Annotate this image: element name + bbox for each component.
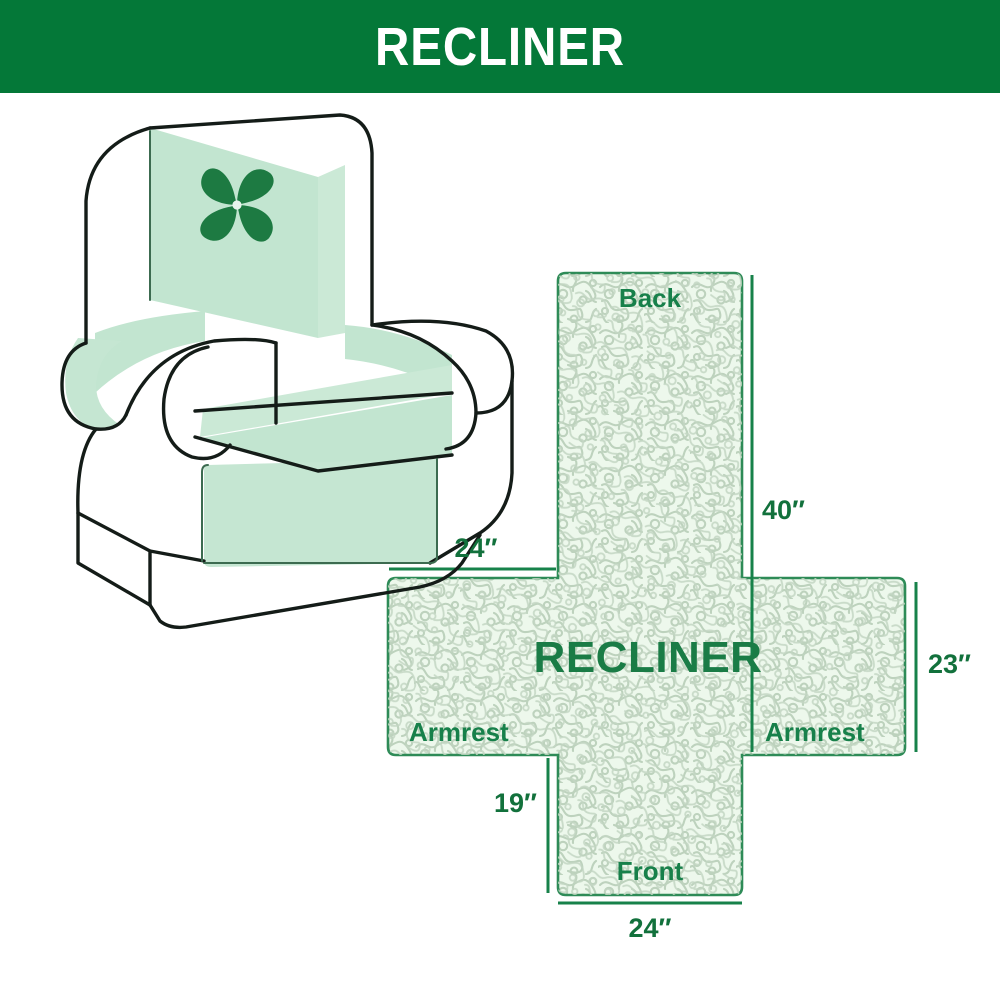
- chair-illustration: [0, 93, 1000, 1000]
- page-title: RECLINER: [375, 20, 625, 74]
- diagram-canvas: Back RECLINER Armrest Armrest Front 40″ …: [0, 93, 1000, 1000]
- dimension-label-23: 23″: [928, 649, 971, 680]
- panel-label-back: Back: [619, 283, 681, 314]
- cover-center-label: RECLINER: [534, 633, 763, 683]
- dimension-label-19: 19″: [494, 788, 537, 819]
- dimension-label-24-bottom: 24″: [629, 913, 672, 944]
- panel-label-front: Front: [617, 856, 683, 887]
- panel-label-armrest-left: Armrest: [409, 717, 509, 748]
- header-banner: RECLINER: [0, 0, 1000, 93]
- panel-label-armrest-right: Armrest: [765, 717, 865, 748]
- dimension-label-24-top: 24″: [455, 533, 498, 564]
- product-size-diagram: RECLINER: [0, 0, 1000, 1000]
- dimension-label-40: 40″: [762, 495, 805, 526]
